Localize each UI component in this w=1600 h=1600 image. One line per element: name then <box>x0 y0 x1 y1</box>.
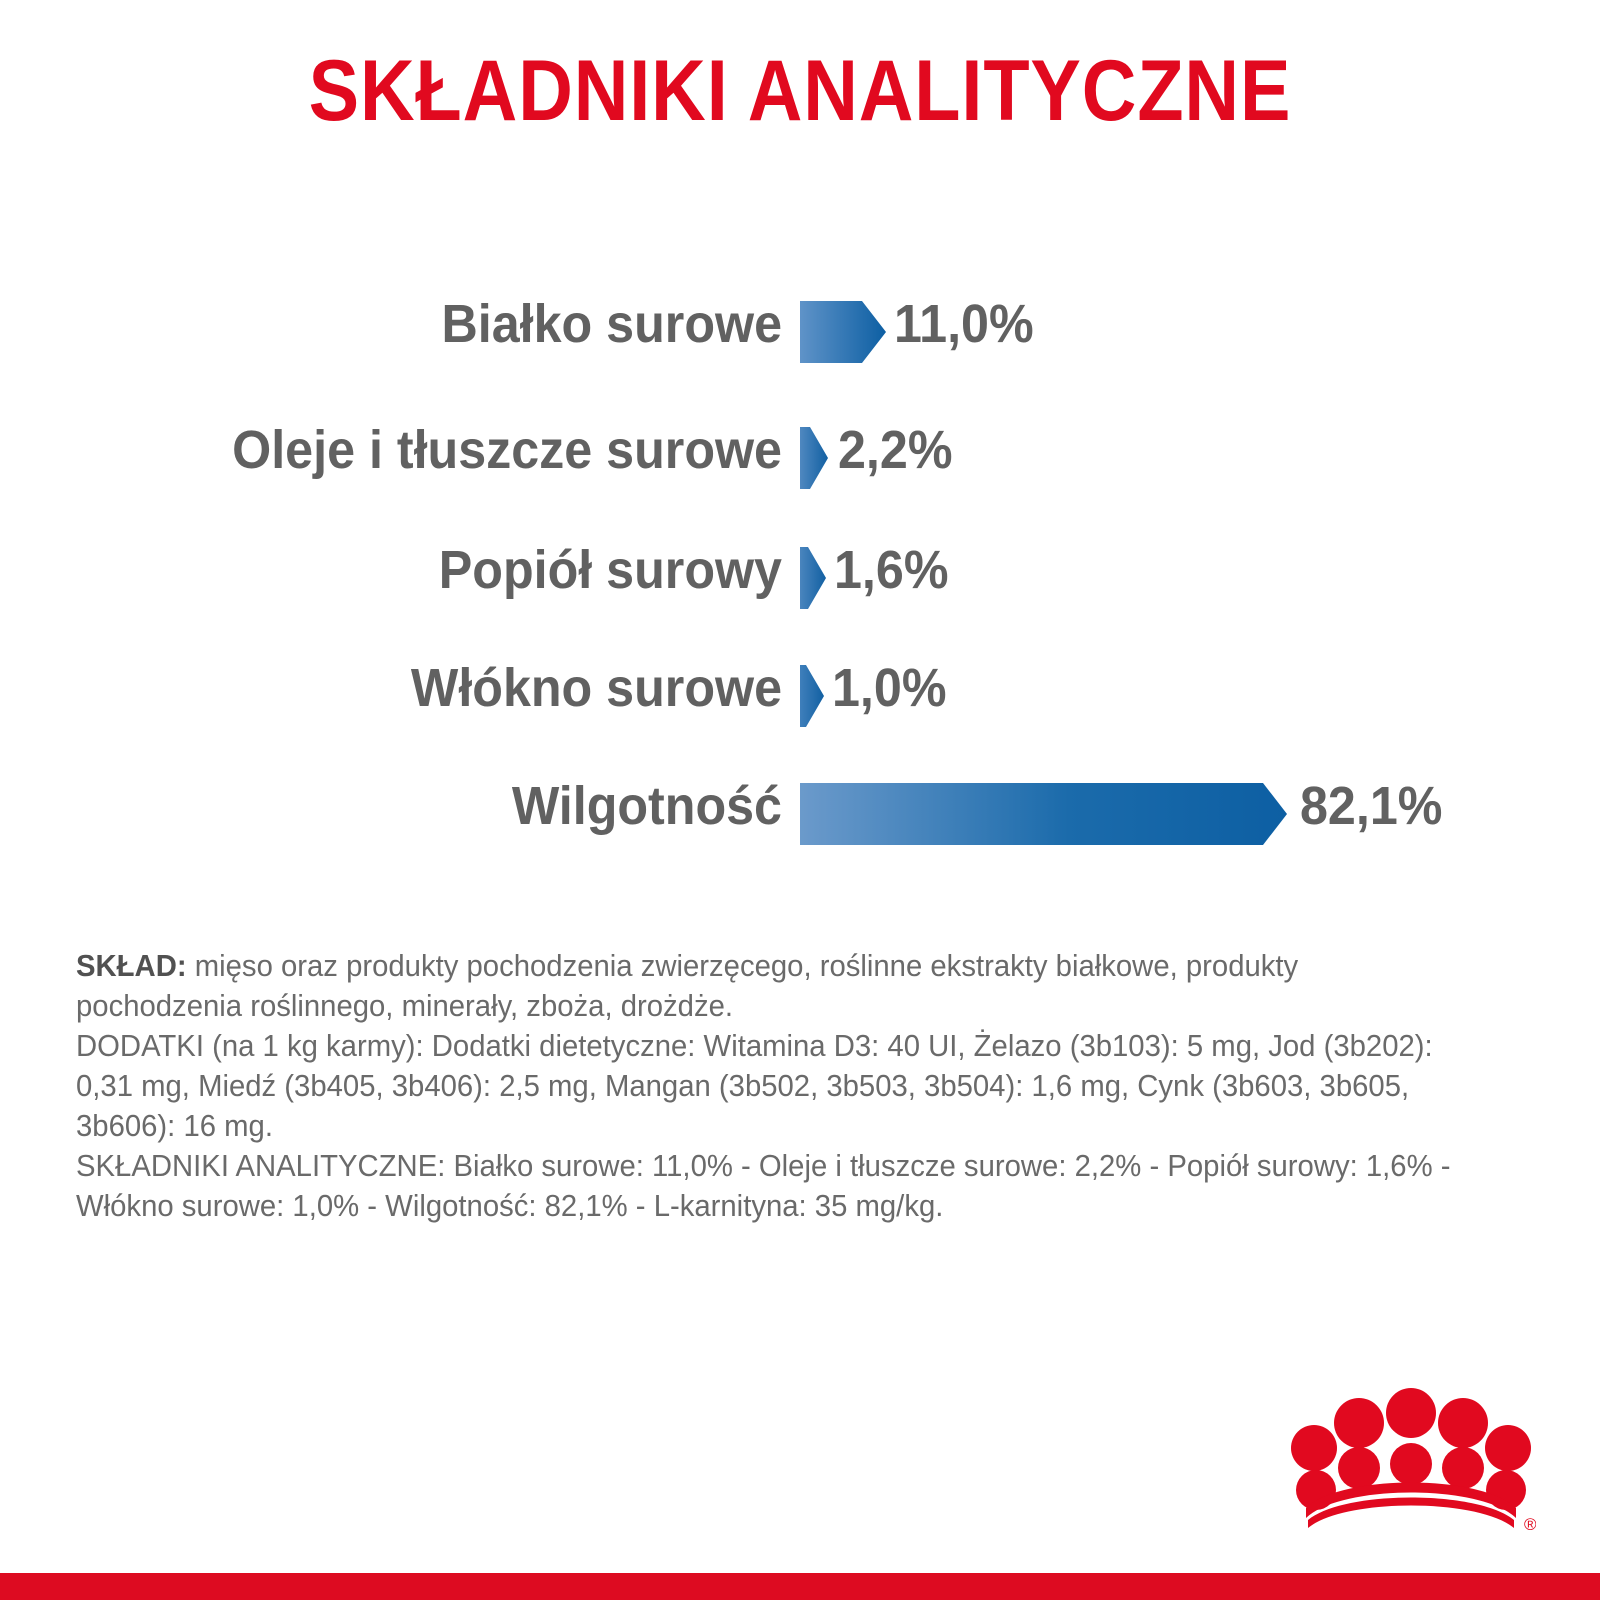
nutrient-bar <box>800 301 886 363</box>
ingredients-block: SKŁAD: mięso oraz produkty pochodzenia z… <box>76 946 1455 1226</box>
registered-trademark-symbol: ® <box>1524 1515 1536 1534</box>
nutrient-value: 82,1% <box>1300 770 1442 842</box>
nutrient-label: Włókno surowe <box>55 652 782 724</box>
nutrient-row: Oleje i tłuszcze surowe 2,2% <box>0 414 1600 534</box>
nutrient-value: 1,0% <box>832 652 946 724</box>
nutrient-value: 11,0% <box>894 288 1034 360</box>
composition-paragraph: SKŁAD: mięso oraz produkty pochodzenia z… <box>76 946 1455 1026</box>
nutrient-row: Popiół surowy 1,6% <box>0 534 1600 652</box>
nutrient-label: Oleje i tłuszcze surowe <box>55 414 782 486</box>
additives-paragraph: DODATKI (na 1 kg karmy): Dodatki dietety… <box>76 1026 1455 1146</box>
composition-text: mięso oraz produkty pochodzenia zwierzęc… <box>76 949 1298 1023</box>
nutrient-label: Wilgotność <box>55 770 782 842</box>
nutrient-value: 1,6% <box>834 534 948 606</box>
nutrient-row: Włókno surowe 1,0% <box>0 652 1600 770</box>
nutrient-bar <box>800 783 1287 845</box>
royal-canin-crown-logo: ® <box>1286 1386 1536 1536</box>
nutrient-bar <box>800 547 826 609</box>
nutrient-row: Wilgotność 82,1% <box>0 770 1600 890</box>
nutrient-label: Białko surowe <box>55 288 782 360</box>
nutrient-bar <box>800 665 824 727</box>
composition-lead-label: SKŁAD: <box>76 949 187 983</box>
bottom-accent-bar <box>0 1573 1600 1600</box>
analytical-paragraph: SKŁADNIKI ANALITYCZNE: Białko surowe: 11… <box>76 1146 1455 1226</box>
nutrient-value: 2,2% <box>838 414 952 486</box>
analytical-constituents-chart: Białko surowe 11,0% Oleje i tłuszcze sur… <box>0 288 1600 890</box>
nutrient-row: Białko surowe 11,0% <box>0 288 1600 414</box>
page-title: SKŁADNIKI ANALITYCZNE <box>96 44 1504 139</box>
nutrient-bar <box>800 427 828 489</box>
nutrient-label: Popiół surowy <box>55 534 782 606</box>
